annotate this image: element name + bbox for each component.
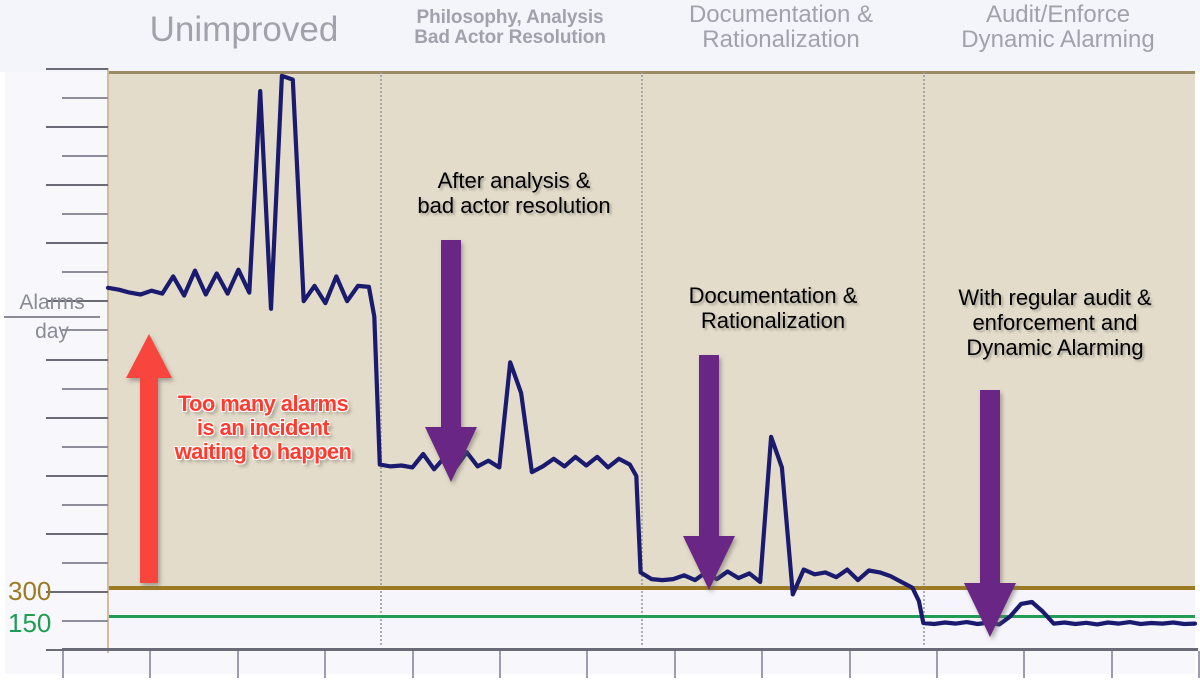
annotation-too-many-alarms: Too many alarms is an incident waiting t…	[160, 392, 366, 465]
y-tick-13	[62, 446, 108, 448]
y-axis-numerator: Alarms	[4, 291, 100, 318]
phase-title-documentation: Documentation & Rationalization	[648, 2, 914, 52]
y-tick-5	[62, 213, 108, 215]
y-tick-1	[62, 97, 108, 99]
annotation-documentation: Documentation & Rationalization	[660, 283, 886, 333]
phase-title-audit: Audit/Enforce Dynamic Alarming	[922, 2, 1194, 52]
y-tick-2	[46, 126, 108, 128]
y-tick-label-300: 300	[8, 576, 74, 607]
x-tick-8	[761, 651, 763, 678]
y-tick-10	[46, 359, 108, 361]
y-tick-0	[46, 68, 108, 70]
phase-divider-1	[380, 72, 382, 645]
x-tick-9	[849, 651, 851, 678]
x-tick-2	[237, 651, 239, 678]
y-tick-label-150: 150	[8, 608, 74, 639]
y-tick-16	[46, 533, 108, 535]
phase-title-unimproved: Unimproved	[108, 12, 380, 49]
y-tick-7	[62, 271, 108, 273]
y-tick-14	[46, 475, 108, 477]
y-tick-6	[46, 242, 108, 244]
x-tick-0	[62, 651, 64, 678]
phase-title-philosophy: Philosophy, Analysis Bad Actor Resolutio…	[382, 8, 638, 48]
x-tick-1	[149, 651, 151, 678]
x-tick-10	[936, 651, 938, 678]
x-axis-line	[62, 648, 1198, 651]
x-tick-11	[1023, 651, 1025, 678]
x-tick-6	[586, 651, 588, 678]
x-tick-12	[1111, 651, 1113, 678]
y-axis-caption: Alarms day	[4, 291, 100, 343]
phase-header-band: Unimproved Philosophy, Analysis Bad Acto…	[0, 0, 1200, 72]
x-tick-5	[499, 651, 501, 678]
y-tick-20	[46, 649, 108, 651]
phase-divider-2	[641, 72, 643, 645]
annotation-after-analysis: After analysis & bad actor resolution	[392, 168, 636, 218]
y-axis-denominator: day	[4, 318, 100, 344]
y-tick-17	[62, 562, 108, 564]
y-tick-12	[46, 417, 108, 419]
y-tick-3	[62, 155, 108, 157]
plot-top-rule	[108, 71, 1195, 74]
x-tick-3	[324, 651, 326, 678]
annotation-audit: With regular audit & enforcement and Dyn…	[922, 285, 1188, 360]
y-tick-11	[62, 388, 108, 390]
y-tick-15	[62, 504, 108, 506]
plot-background-lower	[108, 588, 1195, 645]
x-tick-7	[674, 651, 676, 678]
alarm-rate-chart: Unimproved Philosophy, Analysis Bad Acto…	[0, 0, 1200, 680]
x-tick-4	[412, 651, 414, 678]
y-tick-4	[46, 184, 108, 186]
